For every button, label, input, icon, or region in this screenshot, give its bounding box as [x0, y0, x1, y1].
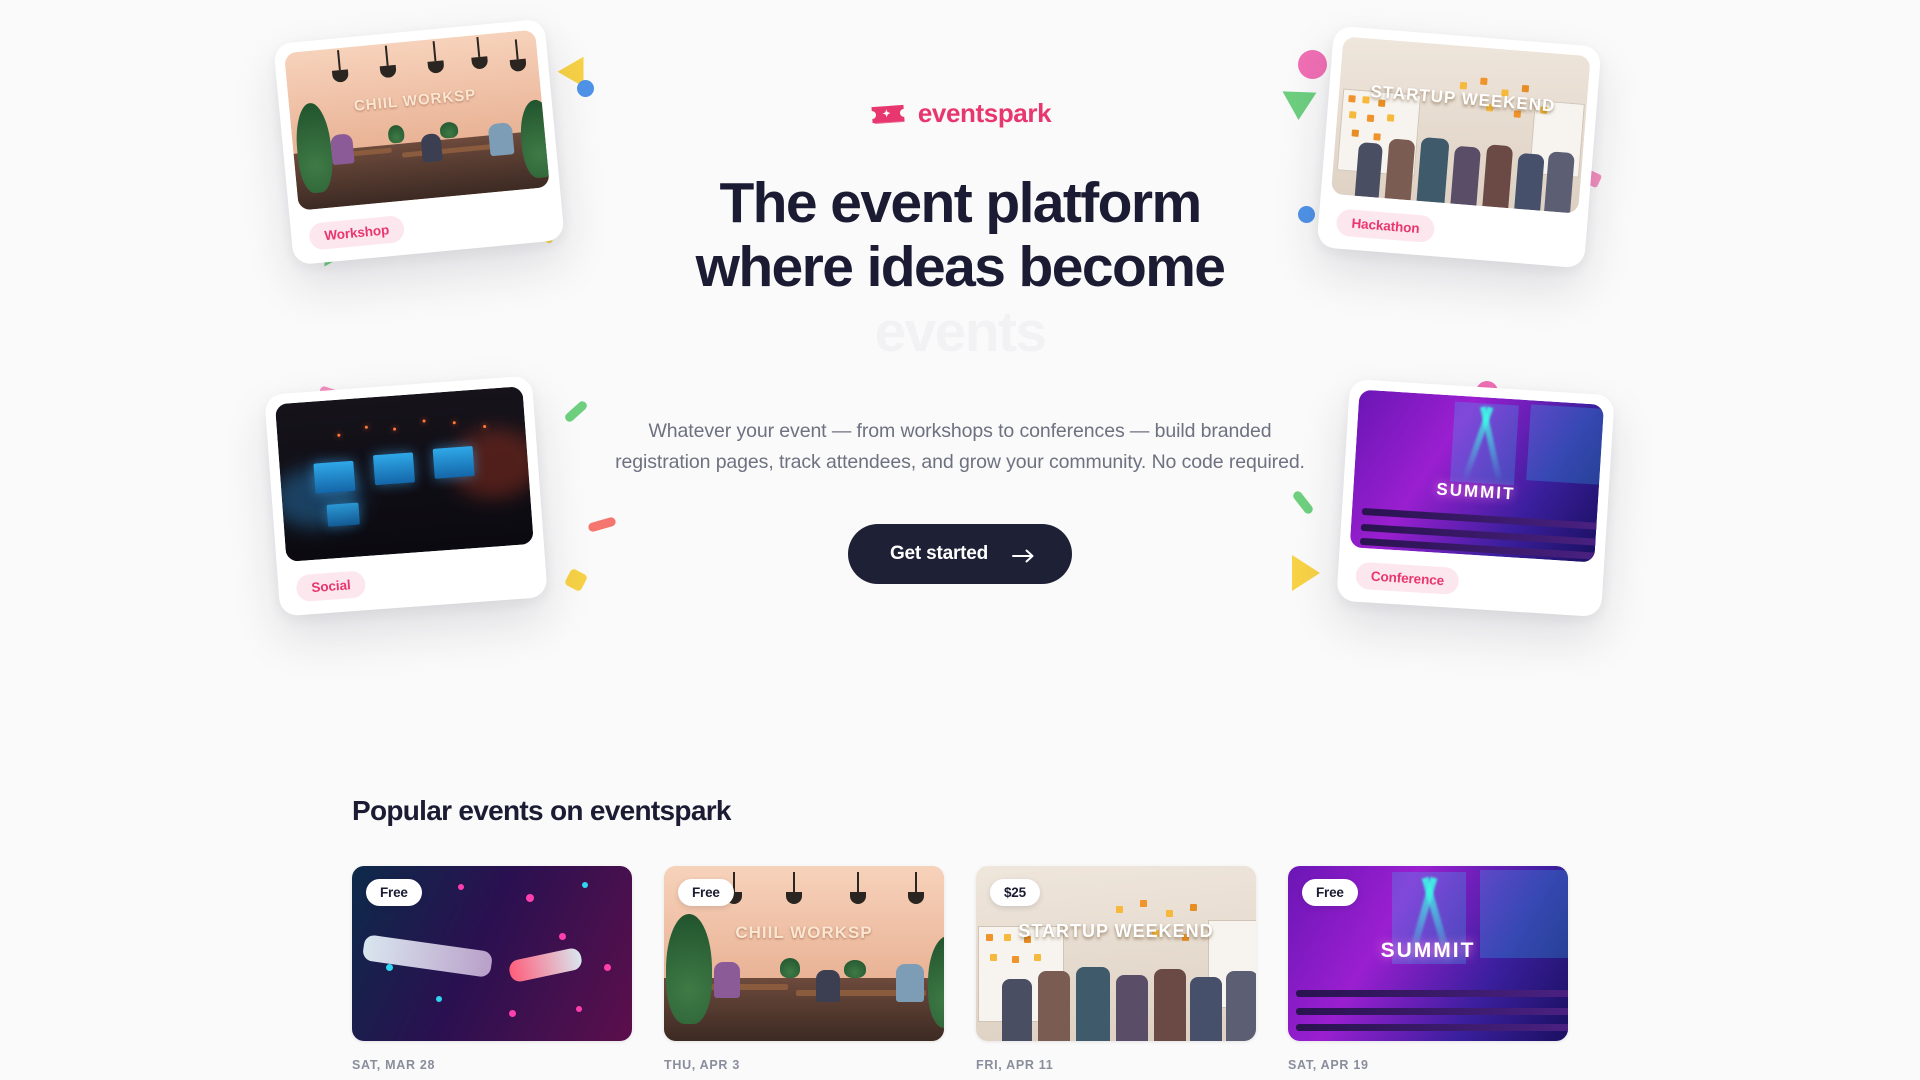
headline-line-2: where ideas become: [696, 235, 1225, 299]
event-date: FRI, APR 11: [976, 1058, 1256, 1072]
floating-card-tag: Workshop: [308, 214, 405, 250]
brand-name: eventspark: [918, 98, 1051, 129]
floating-card-image-workshop: CHIIL WORKSP: [284, 30, 550, 211]
floating-card-image-hackathon: STARTUP WEEKEND: [1331, 36, 1591, 213]
headline-line-3: events: [874, 300, 1045, 364]
floating-card-hackathon[interactable]: STARTUP WEEKEND Hackathon: [1317, 26, 1602, 269]
event-card[interactable]: Free SUMMIT SAT, APR 19: [1288, 866, 1568, 1080]
price-badge: $25: [990, 879, 1040, 906]
page-title: The event platform where ideas become ev…: [610, 171, 1310, 364]
event-thumbnail[interactable]: $25: [976, 866, 1256, 1041]
hero-content: eventspark The event platform where idea…: [610, 98, 1310, 584]
floating-card-image-social: [275, 386, 534, 562]
event-thumbnail[interactable]: Free SUMMIT: [1288, 866, 1568, 1041]
image-caption: SUMMIT: [1288, 940, 1568, 962]
brand-logo[interactable]: eventspark: [610, 98, 1310, 129]
headline-line-1: The event platform: [719, 171, 1200, 235]
event-date: SAT, APR 19: [1288, 1058, 1568, 1072]
events-grid: Free: [352, 866, 1568, 1080]
floating-card-image-conference: SUMMIT: [1350, 390, 1604, 563]
event-date: THU, APR 3: [664, 1058, 944, 1072]
price-badge: Free: [366, 879, 422, 906]
hero-section: CHIIL WORKSP Workshop: [0, 0, 1920, 760]
get-started-label: Get started: [890, 543, 988, 565]
floating-card-social[interactable]: Social: [264, 375, 548, 616]
floating-card-tag: Hackathon: [1336, 208, 1436, 243]
event-card[interactable]: Free: [352, 866, 632, 1080]
price-badge: Free: [678, 879, 734, 906]
popular-events-section: Popular events on eventspark Free: [0, 760, 1920, 1080]
decor-circle-blue-top: [577, 80, 594, 97]
decor-square-yellow-lower-left: [564, 568, 588, 592]
floating-card-tag: Conference: [1355, 561, 1460, 594]
floating-card-conference[interactable]: SUMMIT Conference: [1336, 379, 1614, 617]
hero-subtext: Whatever your event — from workshops to …: [610, 416, 1310, 478]
decor-circle-pink-right: [1298, 50, 1327, 79]
arrow-right-icon: [1012, 547, 1034, 561]
floating-card-tag: Social: [295, 570, 366, 602]
image-caption: STARTUP WEEKEND: [976, 922, 1256, 941]
landing-page: CHIIL WORKSP Workshop: [0, 0, 1920, 1080]
get-started-button[interactable]: Get started: [848, 524, 1072, 584]
event-thumbnail[interactable]: Free CHIIL WORKSP: [664, 866, 944, 1041]
image-caption: [275, 386, 522, 404]
decor-dash-green: [563, 399, 588, 423]
event-card[interactable]: $25: [976, 866, 1256, 1080]
popular-events-title: Popular events on eventspark: [352, 760, 1568, 827]
ticket-sparkle-icon: [869, 101, 907, 127]
event-card[interactable]: Free CHIIL WORKSP: [664, 866, 944, 1080]
event-thumbnail[interactable]: Free: [352, 866, 632, 1041]
floating-card-workshop[interactable]: CHIIL WORKSP Workshop: [273, 19, 565, 266]
event-date: SAT, MAR 28: [352, 1058, 632, 1072]
price-badge: Free: [1302, 879, 1358, 906]
